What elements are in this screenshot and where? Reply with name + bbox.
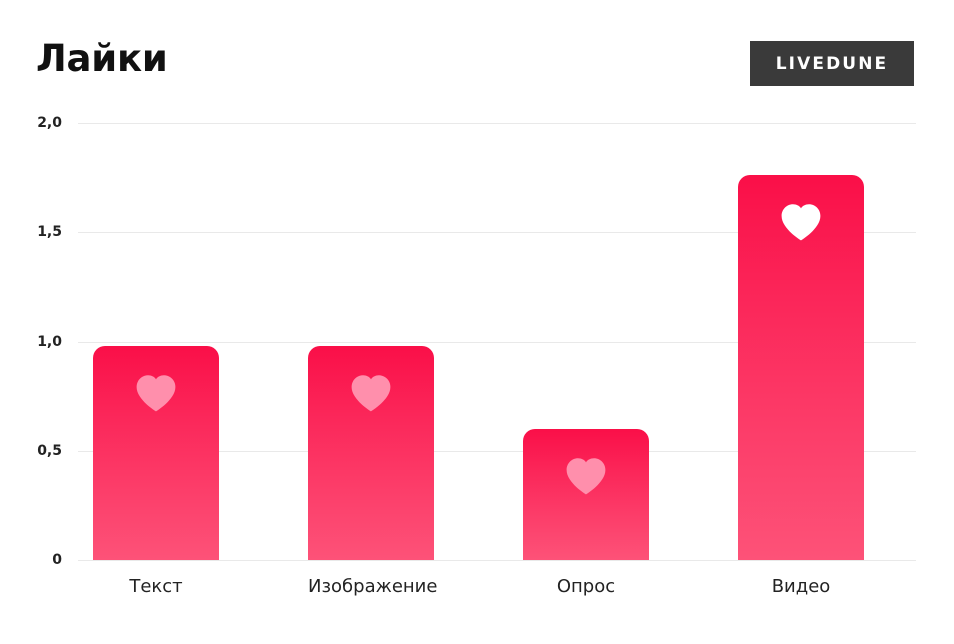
bar-chart-plot: 00,51,01,52,0ТекстИзображениеОпросВидео <box>0 0 954 644</box>
heart-icon <box>565 457 607 495</box>
y-axis-tick-label: 0 <box>0 553 62 567</box>
gridline-0 <box>78 560 916 561</box>
x-axis-category-label: Изображение <box>308 576 434 598</box>
bar-2[interactable] <box>523 429 649 560</box>
x-axis-category-label: Опрос <box>523 576 649 598</box>
y-axis-tick-label: 0,5 <box>0 444 62 458</box>
x-axis-category-label: Текст <box>93 576 219 598</box>
heart-icon <box>135 374 177 412</box>
heart-icon <box>350 374 392 412</box>
gridline-2-0 <box>78 123 916 124</box>
bar-3[interactable] <box>738 175 864 560</box>
y-axis-tick-label: 1,0 <box>0 335 62 349</box>
bar-1[interactable] <box>308 346 434 560</box>
y-axis-tick-label: 1,5 <box>0 225 62 239</box>
y-axis-tick-label: 2,0 <box>0 116 62 130</box>
bar-0[interactable] <box>93 346 219 560</box>
x-axis-category-label: Видео <box>738 576 864 598</box>
chart-page: Лайки LIVEDUNE 00,51,01,52,0ТекстИзображ… <box>0 0 954 644</box>
heart-icon <box>780 203 822 241</box>
